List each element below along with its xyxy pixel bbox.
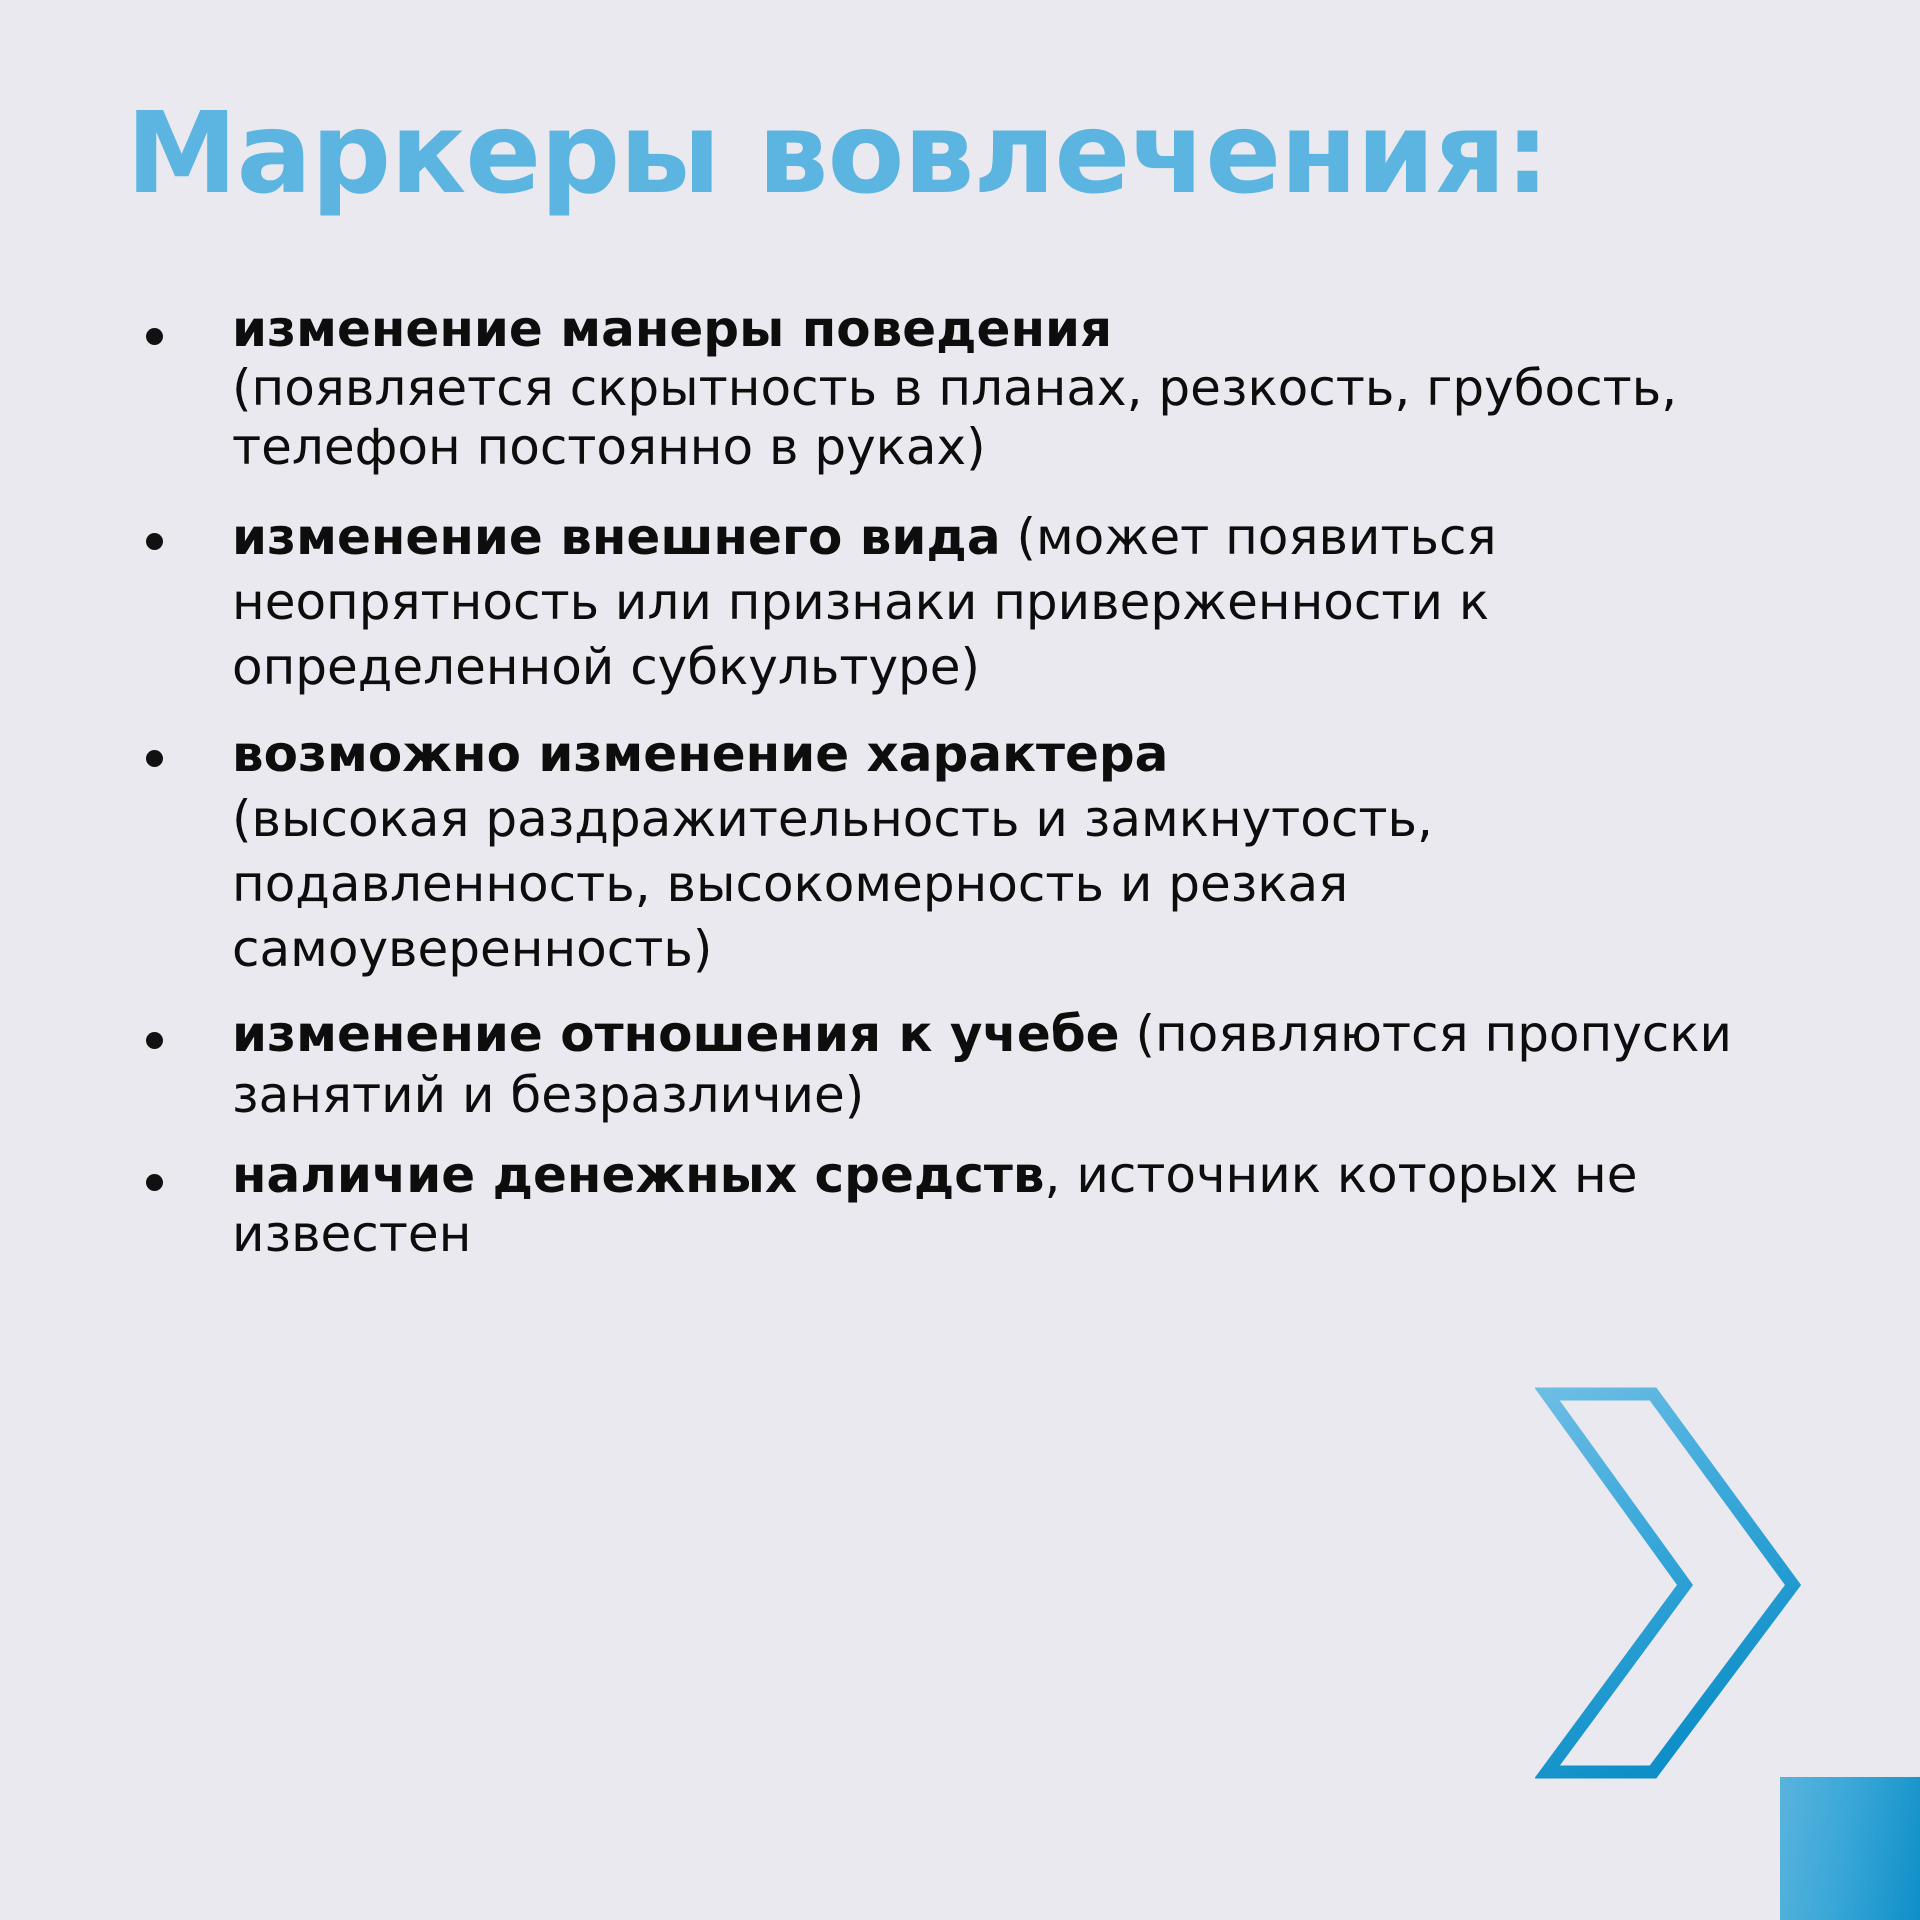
bullet-dot-icon [146,750,163,767]
list-item: наличие денежных средств, источник котор… [0,1146,1920,1264]
list-item-text: наличие денежных средств, источник котор… [232,1146,1800,1264]
list-item-text: изменение внешнего вида (может появиться… [232,505,1800,700]
list-item: изменение отношения к учебе (появляются … [0,1004,1920,1126]
bullet-dot-icon [146,1032,163,1049]
marker-bullet-list: изменение манеры поведения(появляется ск… [0,300,1920,1290]
list-item: возможно изменение характера(высокая раз… [0,722,1920,982]
list-item-lead: изменение отношения к учебе [232,1005,1120,1063]
list-item-text: изменение отношения к учебе (появляются … [232,1004,1800,1126]
list-item-text: возможно изменение характера(высокая раз… [232,722,1800,982]
corner-accent-block [1780,1777,1920,1920]
page-title: Маркеры вовлечения: [126,96,1549,214]
slide-canvas: Маркеры вовлечения: изменение манеры пов… [0,0,1920,1920]
list-item: изменение манеры поведения(появляется ск… [0,300,1920,477]
list-item-text: изменение манеры поведения(появляется ск… [232,300,1800,477]
list-item-rest: (высокая раздражительность и замкнутость… [232,790,1433,978]
list-item: изменение внешнего вида (может появиться… [0,505,1920,700]
list-item-lead: возможно изменение характера [232,725,1168,783]
bullet-dot-icon [146,328,163,345]
bullet-dot-icon [146,533,163,550]
list-item-rest: (появляется скрытность в планах, резкост… [232,359,1677,476]
bullet-dot-icon [146,1174,163,1191]
list-item-lead: наличие денежных средств [232,1146,1045,1204]
list-item-lead: изменение внешнего вида [232,508,1001,566]
chevron-right-icon [1535,1380,1805,1785]
list-item-lead: изменение манеры поведения [232,300,1112,358]
